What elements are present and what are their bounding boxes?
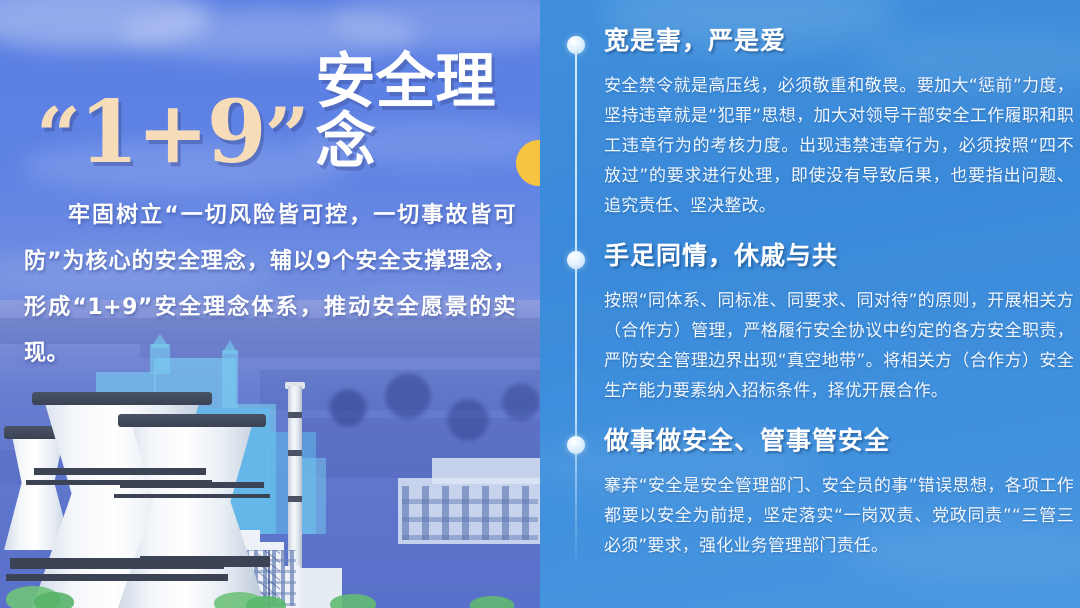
bullet-icon — [567, 251, 585, 269]
bullet-icon — [567, 436, 585, 454]
bullet-icon — [567, 36, 585, 54]
slide-root: “ 1+9 ” 安全理念 牢固树立“一切风险皆可控，一切事故皆可防”为核心的安全… — [0, 0, 1080, 608]
list-item: 做事做安全、管事管安全 搴弃“安全是安全管理部门、安全员的事”错误思想，各项工作… — [540, 424, 1080, 561]
left-content: “ 1+9 ” 安全理念 牢固树立“一切风险皆可控，一切事故皆可防”为核心的安全… — [0, 0, 540, 608]
title-close-quote: ” — [265, 98, 308, 176]
section-body: 按照“同体系、同标准、同要求、同对待”的原则，开展相关方（合作方）管理，严格履行… — [604, 286, 1074, 406]
section-list: 宽是害，严是爱 安全禁令就是高压线，必须敬重和敬畏。要加大“惩前”力度，坚持违章… — [540, 0, 1080, 608]
section-body: 安全禁令就是高压线，必须敬重和敬畏。要加大“惩前”力度，坚持违章就是“犯罪”思想… — [604, 71, 1074, 221]
page-title: “ 1+9 ” 安全理念 — [36, 52, 540, 176]
list-item: 宽是害，严是爱 安全禁令就是高压线，必须敬重和敬畏。要加大“惩前”力度，坚持违章… — [540, 24, 1080, 221]
accent-circle-icon — [516, 140, 540, 186]
title-chinese-text: 安全理念 — [316, 47, 496, 177]
title-chinese: 安全理念 — [316, 52, 541, 172]
left-body-text: 牢固树立“一切风险皆可控，一切事故皆可防”为核心的安全理念，辅以9个安全支撑理念… — [24, 193, 516, 377]
right-panel: 宽是害，严是爱 安全禁令就是高压线，必须敬重和敬畏。要加大“惩前”力度，坚持违章… — [540, 0, 1080, 608]
title-number: 1+9 — [79, 90, 265, 176]
section-title: 手足同情，休戚与共 — [604, 239, 1074, 273]
title-open-quote: “ — [36, 98, 79, 176]
section-title: 做事做安全、管事管安全 — [604, 424, 1074, 458]
section-body: 搴弃“安全是安全管理部门、安全员的事”错误思想，各项工作都要以安全为前提，坚定落… — [604, 471, 1074, 561]
left-panel: “ 1+9 ” 安全理念 牢固树立“一切风险皆可控，一切事故皆可防”为核心的安全… — [0, 0, 540, 608]
list-item: 手足同情，休戚与共 按照“同体系、同标准、同要求、同对待”的原则，开展相关方（合… — [540, 239, 1080, 406]
section-title: 宽是害，严是爱 — [604, 24, 1074, 58]
